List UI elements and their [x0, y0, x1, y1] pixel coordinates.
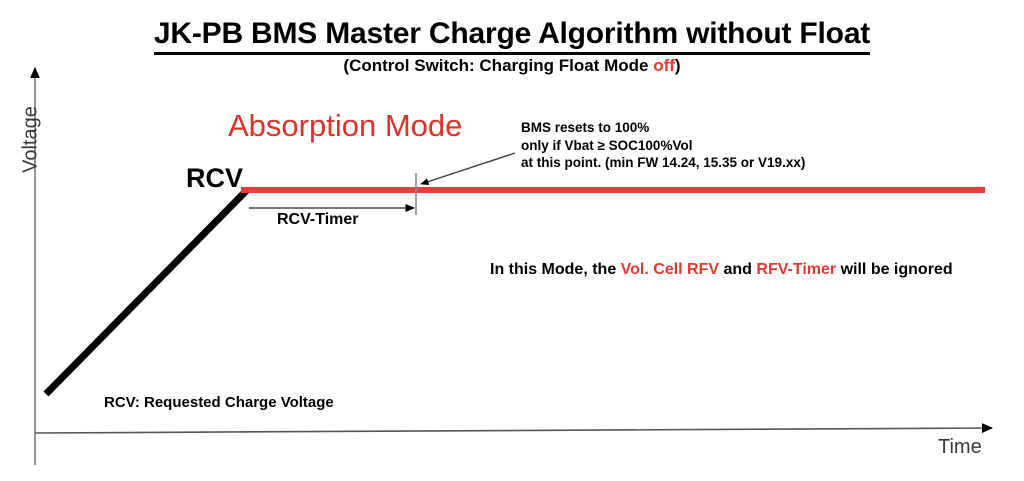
- bms-note-leader-arrow: [421, 153, 515, 184]
- mode-ignored-params-note: In this Mode, the Vol. Cell RFV and RFV-…: [490, 261, 953, 279]
- absorption-mode-label: Absorption Mode: [228, 108, 462, 144]
- mode-note-highlight-rfv-timer: RFV-Timer: [756, 261, 836, 278]
- x-axis: [35, 428, 992, 433]
- rcv-legend-note: RCV: Requested Charge Voltage: [104, 394, 334, 411]
- mode-note-highlight-vol-cell-rfv: Vol. Cell RFV: [621, 261, 719, 278]
- diagram-canvas: JK-PB BMS Master Charge Algorithm withou…: [0, 0, 1024, 481]
- y-axis-label: Voltage: [20, 95, 43, 185]
- rcv-timer-label: RCV-Timer: [277, 211, 359, 229]
- mode-note-part-3: will be ignored: [836, 261, 952, 278]
- charge-ramp-line: [46, 190, 247, 394]
- bms-reset-note-line-3: at this point. (min FW 14.24, 15.35 or V…: [521, 154, 805, 172]
- bms-reset-note-line-2: only if Vbat ≥ SOC100%Vol: [521, 137, 805, 155]
- bms-reset-note-line-1: BMS resets to 100%: [521, 119, 805, 137]
- mode-note-part-1: In this Mode, the: [490, 261, 621, 278]
- mode-note-part-2: and: [719, 261, 756, 278]
- bms-reset-note: BMS resets to 100% only if Vbat ≥ SOC100…: [521, 119, 805, 172]
- x-axis-label: Time: [938, 436, 982, 459]
- rcv-label: RCV: [186, 163, 243, 194]
